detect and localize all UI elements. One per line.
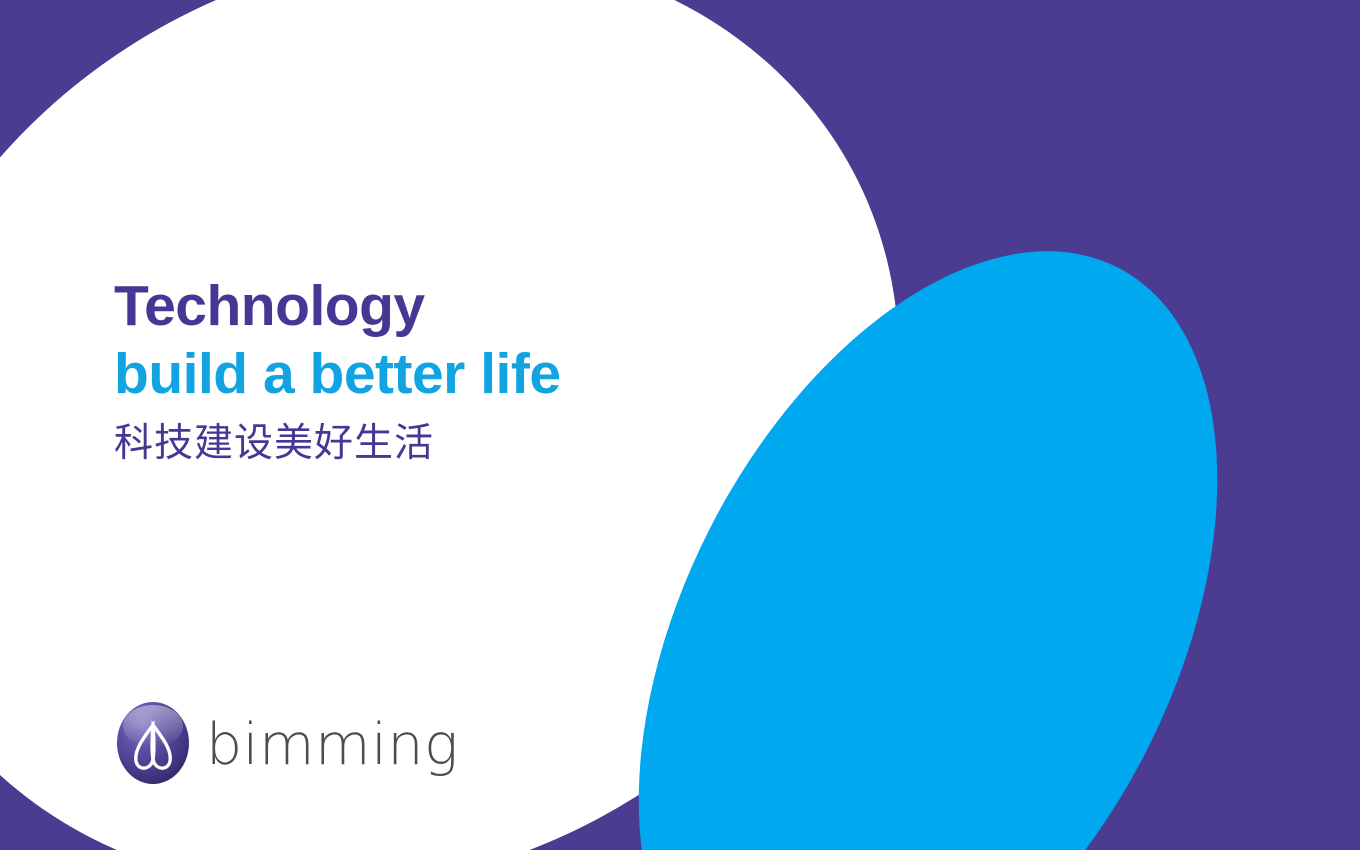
subtitle-chinese: 科技建设美好生活	[114, 420, 561, 468]
logo-lockup: bimming	[114, 700, 459, 786]
headline-block: Technology build a better life 科技建设美好生活	[114, 272, 561, 468]
logo-wordmark: bimming	[206, 715, 459, 775]
title-line-secondary: build a better life	[114, 340, 561, 408]
slide-content: Technology build a better life 科技建设美好生活 …	[0, 0, 1360, 850]
title-slide: Technology build a better life 科技建设美好生活 …	[0, 0, 1360, 850]
bimming-logo-mark-icon	[114, 700, 192, 786]
title-line-primary: Technology	[114, 272, 561, 340]
